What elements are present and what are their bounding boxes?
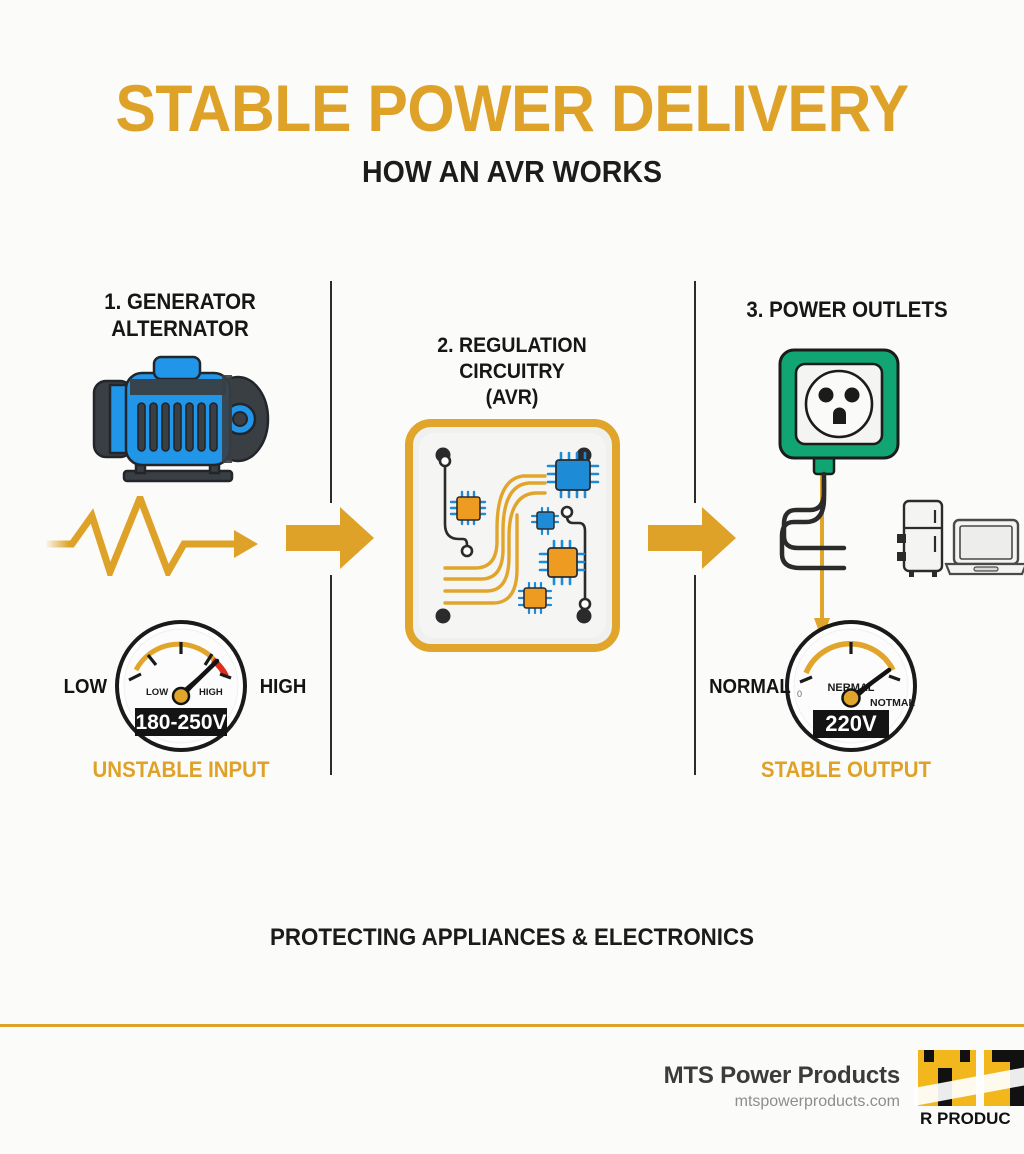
input-gauge-value: 180-250V xyxy=(135,711,226,734)
output-gauge-label-left: 0 xyxy=(797,689,802,699)
stable-output-caption: STABLE OUTPUT xyxy=(746,757,947,783)
generator-alternator-icon xyxy=(88,355,274,488)
step-3-heading: 3. POWER OUTLETS xyxy=(710,296,983,323)
step-1-heading: 1. GENERATOR ALTERNATOR xyxy=(41,288,320,342)
laptop-icon xyxy=(946,520,1024,574)
section-divider-2-bottom xyxy=(694,575,696,775)
circuit-board-icon xyxy=(405,419,620,657)
section-divider-2-top xyxy=(694,281,696,503)
svg-text:HIGH: HIGH xyxy=(199,687,223,698)
footer-divider xyxy=(0,1024,1024,1027)
output-gauge-label-right: NOTMAL xyxy=(870,697,915,709)
gauge-label-normal: NORMAL xyxy=(709,676,791,699)
brand-url[interactable]: mtspowerproducts.com xyxy=(664,1093,900,1111)
unstable-input-caption: UNSTABLE INPUT xyxy=(78,757,284,783)
step-2-heading: 2. REGULATION CIRCUITRY (AVR) xyxy=(382,333,642,411)
section-divider-1-top xyxy=(330,281,332,503)
section-divider-1-bottom xyxy=(330,575,332,775)
brand-name: MTS Power Products xyxy=(664,1062,900,1090)
connected-devices xyxy=(896,498,1024,585)
refrigerator-icon xyxy=(896,498,1024,580)
bottom-tagline: PROTECTING APPLIANCES & ELECTRONICS xyxy=(36,924,988,952)
output-gauge: NERMAL 0 NOTMAL 220V xyxy=(783,618,919,759)
footer-brand: MTS Power Products mtspowerproducts.com xyxy=(664,1062,900,1111)
arrow-generator-to-avr xyxy=(286,507,374,574)
output-gauge-value: 220V xyxy=(825,711,877,736)
infographic-page: STABLE POWER DELIVERY HOW AN AVR WORKS 1… xyxy=(0,0,1024,1154)
page-title: STABLE POWER DELIVERY xyxy=(41,72,983,144)
unstable-waveform-icon xyxy=(44,496,262,581)
step-3-heading-text: 3. POWER OUTLETS xyxy=(746,297,947,322)
svg-text:LOW: LOW xyxy=(146,687,168,698)
arrow-avr-to-outlets xyxy=(648,507,736,574)
step-2-heading-text: 2. REGULATION CIRCUITRY (AVR) xyxy=(437,334,586,409)
gauge-label-low: LOW xyxy=(64,676,107,699)
step-1-heading-text: 1. GENERATOR ALTERNATOR xyxy=(104,289,256,341)
input-gauge: LOW HIGH 180-250V xyxy=(113,618,249,759)
logo-wordmark: R PRODUC xyxy=(920,1109,1011,1128)
gauge-label-high: HIGH xyxy=(260,676,307,699)
page-subtitle: HOW AN AVR WORKS xyxy=(41,153,983,191)
mts-logo-mark: R PRODUC xyxy=(914,1044,1024,1128)
